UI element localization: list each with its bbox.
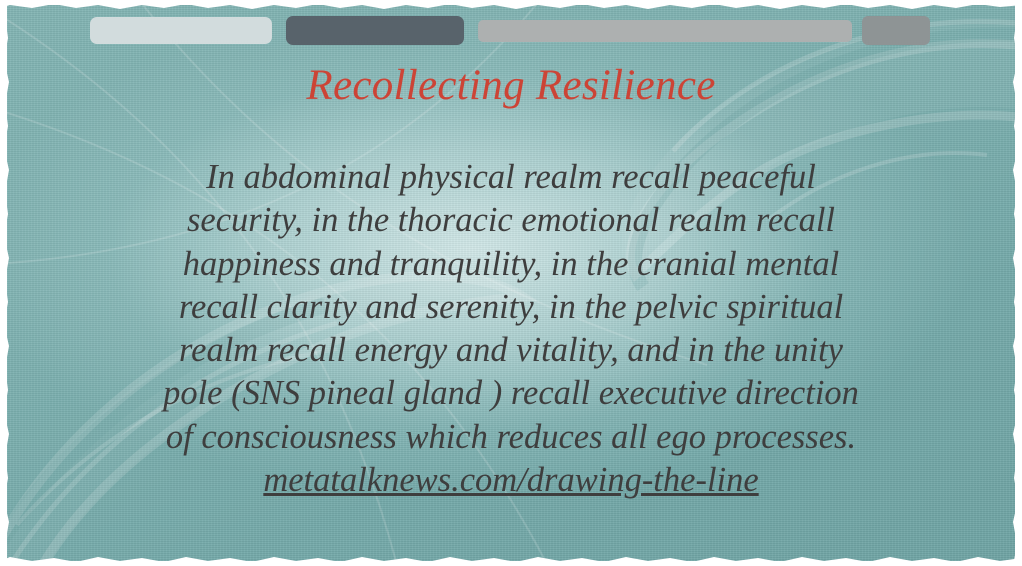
source-url-line: metatalknews.com/drawing-the-line (56, 459, 966, 502)
body-line-3: happiness and tranquility, in the crania… (56, 243, 966, 286)
decorative-bar-dark-slate (286, 16, 464, 45)
decorative-bar-light (90, 17, 272, 44)
decorative-bar-dark-grey (862, 16, 930, 45)
body-line-5: realm recall energy and vitality, and in… (56, 329, 966, 372)
body-line-4: recall clarity and serenity, in the pelv… (56, 286, 966, 329)
body-line-2: security, in the thoracic emotional real… (56, 199, 966, 242)
body-line-6: pole (SNS pineal gland ) recall executiv… (56, 372, 966, 415)
source-url-link[interactable]: metatalknews.com/drawing-the-line (263, 461, 758, 499)
body-line-7: of consciousness which reduces all ego p… (56, 416, 966, 459)
body-line-1: In abdominal physical realm recall peace… (56, 156, 966, 199)
decorative-bar-mid-grey (478, 20, 852, 42)
top-bar-group (0, 0, 1022, 56)
slide-title: Recollecting Resilience (0, 60, 1022, 112)
slide-body: In abdominal physical realm recall peace… (56, 156, 966, 502)
slide-canvas: Recollecting Resilience In abdominal phy… (0, 0, 1022, 566)
